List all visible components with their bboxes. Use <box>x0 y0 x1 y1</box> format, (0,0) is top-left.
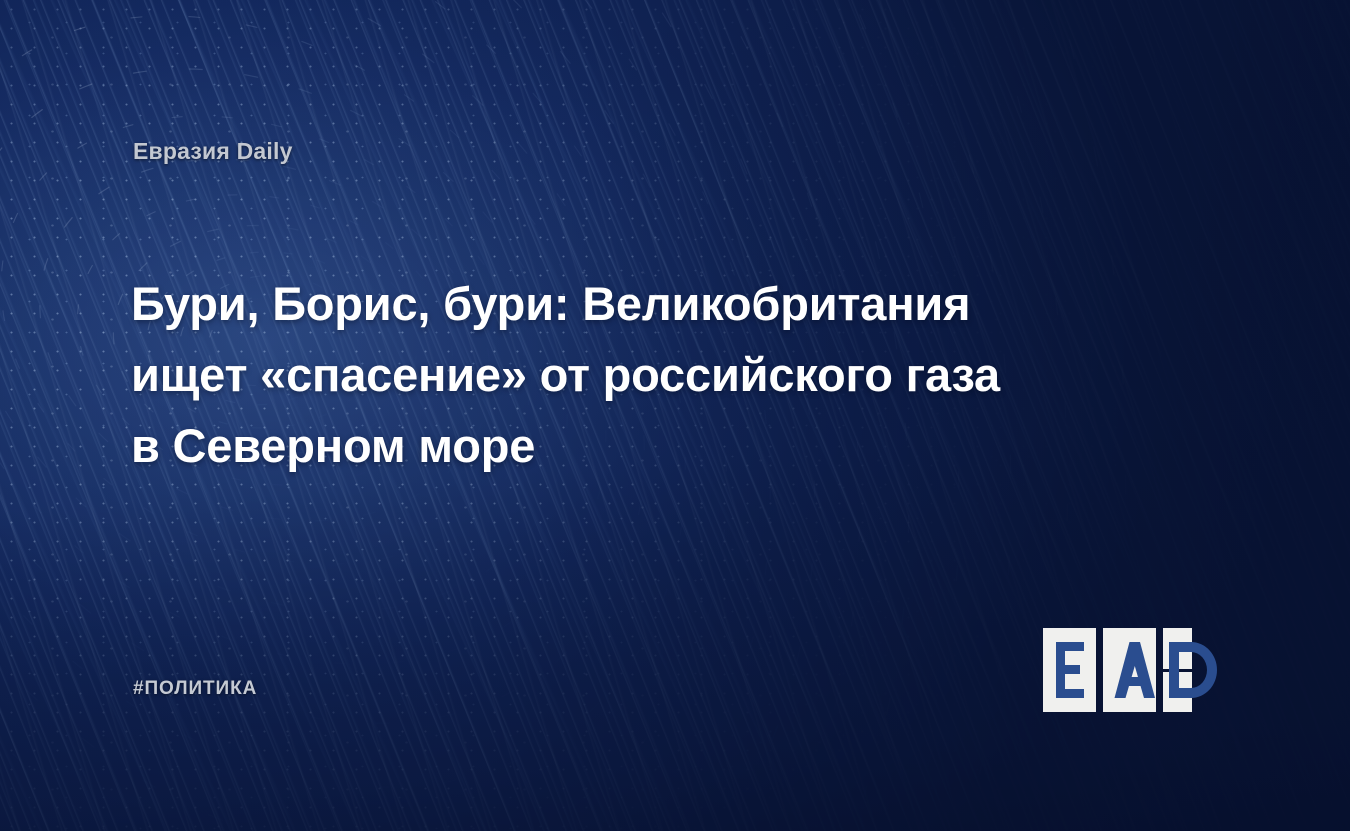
category-hashtag[interactable]: #ПОЛИТИКА <box>133 678 257 700</box>
card-content: Евразия Daily Бури, Борис, бури: Великоб… <box>0 0 1350 831</box>
logo-letter-d <box>1169 642 1217 698</box>
headline-line-1: Бури, Борис, бури: Великобритания <box>131 268 1161 339</box>
logo-letter-e <box>1056 642 1084 698</box>
brand-name: Евразия Daily <box>133 138 293 165</box>
news-card: Евразия Daily Бури, Борис, бури: Великоб… <box>0 0 1350 831</box>
headline-line-2: ищет «спасение» от российского газа <box>131 339 1161 410</box>
headline-line-3: в Северном море <box>131 410 1161 481</box>
eadaily-logo[interactable] <box>1043 628 1223 712</box>
headline: Бури, Борис, бури: Великобритания ищет «… <box>131 268 1161 481</box>
